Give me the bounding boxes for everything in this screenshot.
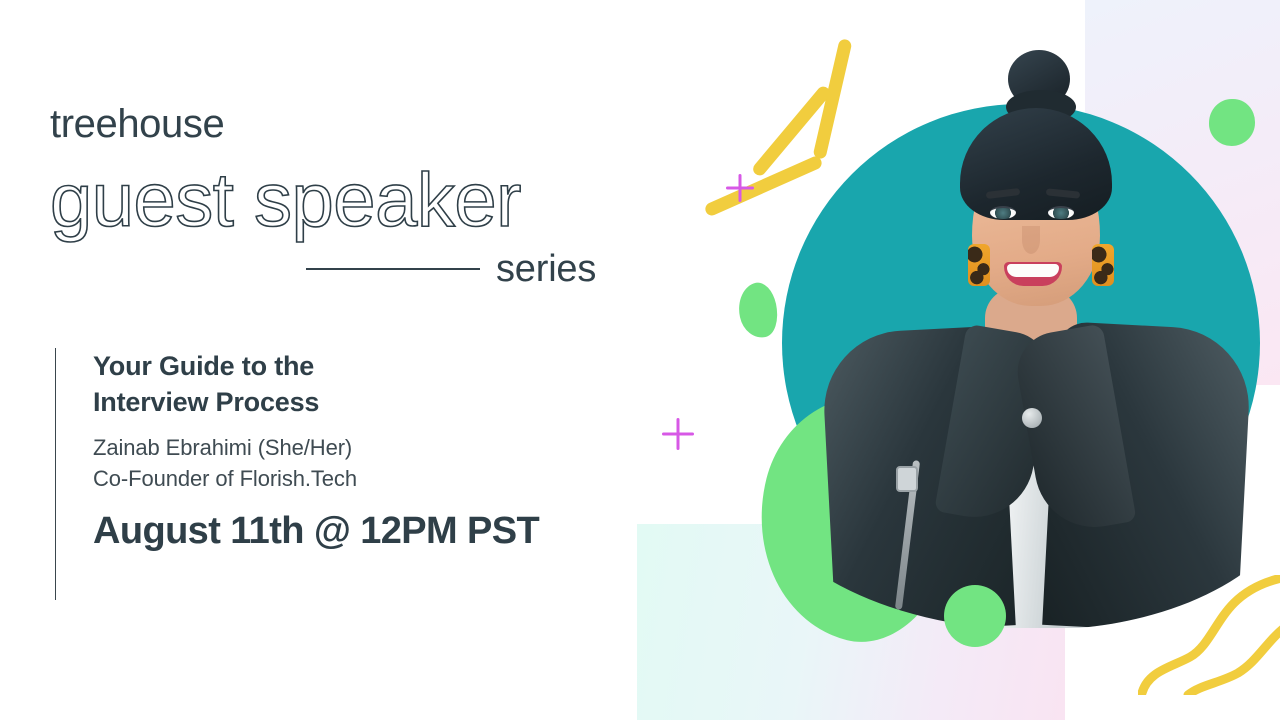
speaker-portrait [800, 30, 1270, 628]
teeth [1007, 264, 1059, 277]
eye-right [1048, 206, 1074, 219]
series-row: series [50, 248, 650, 291]
talk-title: Your Guide to the Interview Process [93, 348, 655, 420]
brand-wordmark: treehouse [50, 104, 650, 144]
jacket-zipper-pull [896, 466, 918, 492]
yellow-squiggle-lines [1138, 575, 1280, 695]
eye-left [990, 206, 1016, 219]
yellow-squiggle-lower [1188, 625, 1280, 695]
brand-block: treehouse guest speaker series [50, 104, 650, 291]
series-divider-rule [306, 268, 480, 270]
hair [960, 108, 1112, 220]
series-label: series [496, 248, 596, 291]
promo-graphic: treehouse guest speaker series Your Guid… [0, 0, 1280, 720]
green-bean-blob [734, 280, 783, 342]
plus-icon-middle [662, 418, 694, 450]
event-detail-block: Your Guide to the Interview Process Zain… [55, 348, 655, 600]
nose [1022, 226, 1040, 254]
speaker-role: Co-Founder of Florish.Tech [93, 464, 655, 494]
jacket-snap-button [1022, 408, 1042, 428]
speaker-name: Zainab Ebrahimi (She/Her) [93, 433, 655, 463]
series-headline: guest speaker [50, 162, 650, 240]
talk-title-line-2: Interview Process [93, 384, 655, 420]
green-circle-blob-bottom [944, 585, 1006, 647]
plus-icon-top [726, 174, 754, 202]
talk-title-line-1: Your Guide to the [93, 348, 655, 384]
earring-right [1092, 244, 1114, 286]
earring-left [968, 244, 990, 286]
event-datetime: August 11th @ 12PM PST [93, 510, 655, 553]
yellow-squiggle-upper [1142, 577, 1280, 693]
